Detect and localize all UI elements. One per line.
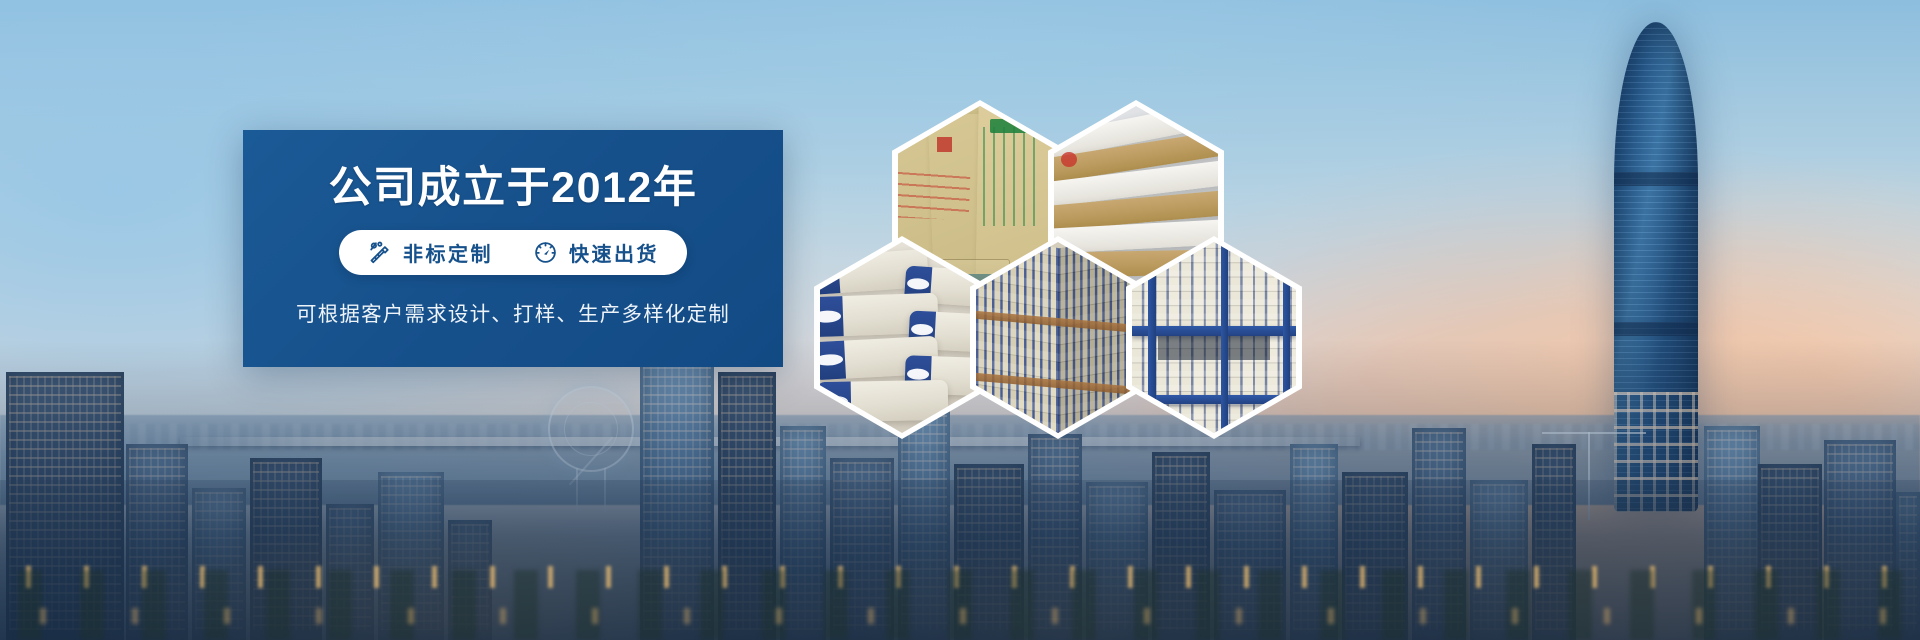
hexagon-image-cluster [800,96,1270,436]
badge-label: 非标定制 [403,238,493,267]
badge-fast-shipping[interactable]: 快速出货 [533,238,659,267]
badge-custom-manufacturing[interactable]: 非标定制 [367,238,493,267]
feature-badge-pill: 非标定制 快速出货 [339,230,687,275]
stacked-bags-photo [820,242,984,433]
warehouse-photo [1132,242,1296,433]
pallet-stack-photo [976,242,1140,433]
promo-text-panel: 公司成立于2012年 非标定制 [243,130,783,367]
street-lights-row-near [0,608,1920,624]
page-title: 公司成立于2012年 [329,167,698,210]
ruler-pencil-icon [367,240,392,265]
speedometer-icon [533,240,558,265]
badge-label: 快速出货 [569,238,659,267]
panel-subtitle: 可根据客户需求设计、打样、生产多样化定制 [296,297,730,327]
tree-line [0,570,1920,640]
tower-band [1614,172,1698,186]
tower-band [1614,322,1698,336]
hero-banner: 公司成立于2012年 非标定制 [0,0,1920,640]
